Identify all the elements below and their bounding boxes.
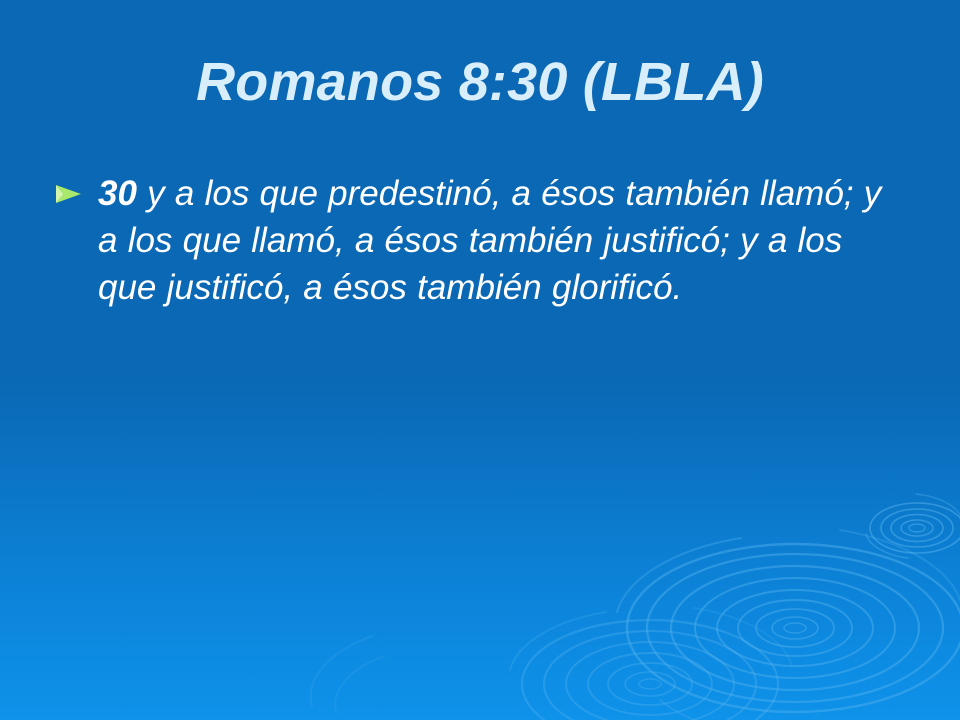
arrowhead-bullet-icon	[54, 170, 98, 205]
verse-body-text: y a los que predestinó, a ésos también l…	[98, 174, 881, 307]
body-placeholder: 30 y a los que predestinó, a ésos tambié…	[54, 170, 934, 311]
slide-title: Romanos 8:30 (LBLA)	[196, 52, 764, 112]
title-placeholder: Romanos 8:30 (LBLA)	[0, 52, 960, 112]
verse-text: 30 y a los que predestinó, a ésos tambié…	[98, 170, 898, 311]
verse-number: 30	[98, 174, 137, 213]
presentation-slide: Romanos 8:30 (LBLA) 30 y a los que prede…	[0, 0, 960, 720]
bullet-list-item: 30 y a los que predestinó, a ésos tambié…	[54, 170, 934, 311]
